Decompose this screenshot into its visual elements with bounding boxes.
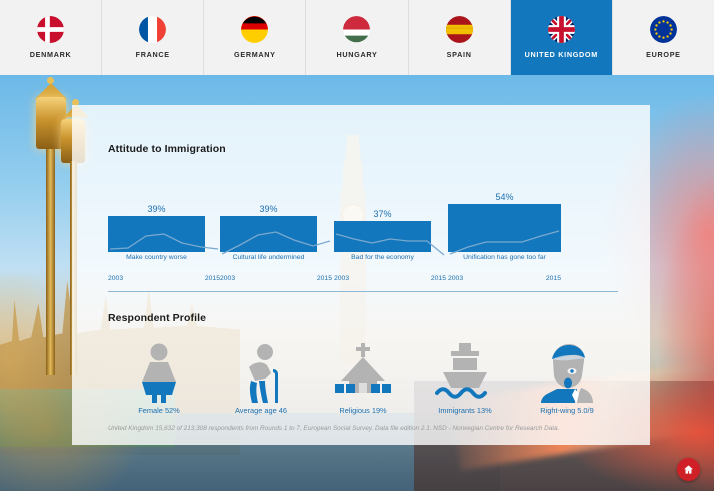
profile-item-immigrants[interactable]: Immigrants 13%	[414, 333, 516, 415]
nav-tab-label: DENMARK	[30, 50, 72, 59]
home-icon	[683, 464, 694, 475]
nav-tab-denmark[interactable]: DENMARK	[0, 0, 102, 75]
sparkline-cell: 2003 2015	[448, 227, 561, 282]
attitude-section-title: Attitude to Immigration	[108, 143, 226, 155]
ship-icon	[429, 341, 501, 403]
sparkline-cell: 2003 2015	[220, 227, 332, 282]
flag-uk-icon	[548, 16, 575, 43]
bar-value-label: 39%	[147, 204, 165, 214]
female-figure-icon	[123, 341, 195, 403]
nav-tab-label: HUNGARY	[337, 50, 378, 59]
flag-denmark-icon	[37, 16, 64, 43]
sparkline-tick-end: 2015	[317, 275, 332, 282]
nav-tab-label: UNITED KINGDOM	[525, 50, 598, 59]
sparkline-cell: 2003 2015	[334, 227, 446, 282]
country-nav[interactable]: DENMARK FRANCE GERMANY HUNGARY	[0, 0, 714, 75]
respondent-profile-row: Female 52% Average age 46	[108, 333, 618, 415]
sparkline-tick-start: 2003	[220, 275, 235, 282]
sparkline-chart	[220, 227, 332, 263]
dashboard-card: Attitude to Immigration 39% Make country…	[72, 105, 650, 445]
nav-tab-france[interactable]: FRANCE	[102, 0, 204, 75]
profile-item-average-age[interactable]: Average age 46	[210, 333, 312, 415]
nav-tab-germany[interactable]: GERMANY	[204, 0, 306, 75]
profile-label: Average age 46	[235, 406, 287, 415]
profile-label: Religious 19%	[339, 406, 386, 415]
elderly-cane-icon	[225, 341, 297, 403]
flag-spain-icon	[446, 16, 473, 43]
church-icon	[327, 341, 399, 403]
sparkline-chart	[108, 227, 220, 263]
profile-item-religious[interactable]: Religious 19%	[312, 333, 414, 415]
bar-value-label: 37%	[373, 209, 391, 219]
nav-tab-hungary[interactable]: HUNGARY	[306, 0, 408, 75]
profile-item-female[interactable]: Female 52%	[108, 333, 210, 415]
sparkline-axis: 2003 2015	[448, 275, 561, 282]
sparkline-tick-end: 2015	[431, 275, 446, 282]
sparkline-axis: 2003 2015	[334, 275, 446, 282]
nav-tab-united-kingdom[interactable]: UNITED KINGDOM	[511, 0, 613, 75]
bar-value-label: 54%	[495, 192, 513, 202]
profile-label: Female 52%	[138, 406, 180, 415]
profile-section-title: Respondent Profile	[108, 312, 206, 324]
nav-tab-europe[interactable]: EUROPE	[613, 0, 714, 75]
source-note: United Kingdom 15,632 of 213,308 respond…	[108, 425, 628, 432]
nav-tab-spain[interactable]: SPAIN	[409, 0, 511, 75]
flag-germany-icon	[241, 16, 268, 43]
home-button[interactable]	[677, 458, 700, 481]
sparkline-chart	[448, 227, 561, 263]
sparkline-tick-start: 2003	[334, 275, 349, 282]
flag-hungary-icon	[343, 16, 370, 43]
nav-tab-label: EUROPE	[646, 50, 681, 59]
profile-label: Immigrants 13%	[438, 406, 491, 415]
sparkline-tick-end: 2015	[546, 275, 561, 282]
profile-label: Right-wing 5.0/9	[540, 406, 593, 415]
sparkline-tick-start: 2003	[108, 275, 123, 282]
profile-item-right-wing[interactable]: Right-wing 5.0/9	[516, 333, 618, 415]
flag-europe-icon	[650, 16, 677, 43]
sparkline-cell: 2003 2015	[108, 227, 220, 282]
nav-tab-label: FRANCE	[136, 50, 170, 59]
politician-caricature-icon	[531, 341, 603, 403]
section-divider	[108, 291, 618, 292]
sparkline-row: 2003 2015 2003 2015 2003 2015	[108, 227, 618, 282]
bar-value-label: 39%	[259, 204, 277, 214]
sparkline-tick-end: 2015	[205, 275, 220, 282]
nav-tab-label: GERMANY	[234, 50, 276, 59]
sparkline-axis: 2003 2015	[220, 275, 332, 282]
nav-tab-label: SPAIN	[447, 50, 472, 59]
flag-france-icon	[139, 16, 166, 43]
sparkline-axis: 2003 2015	[108, 275, 220, 282]
sparkline-chart	[334, 227, 446, 263]
sparkline-tick-start: 2003	[448, 275, 463, 282]
